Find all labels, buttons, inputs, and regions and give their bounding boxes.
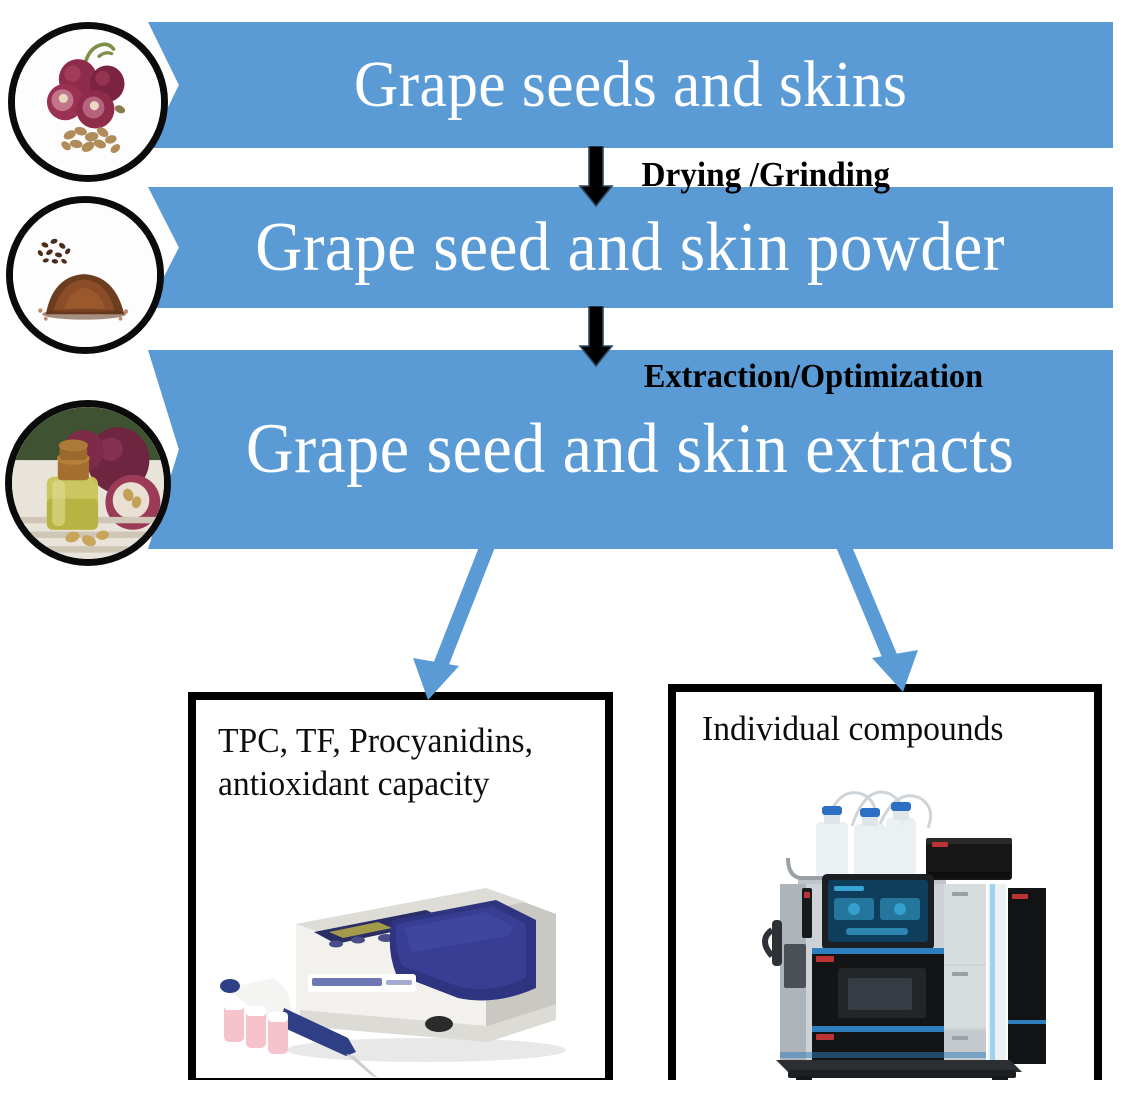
process-step-label-1: Grape seeds and skins	[354, 52, 908, 118]
flowchart-canvas: Grape seeds and skins Grape seed and ski…	[0, 0, 1125, 1110]
grapes-with-seeds-icon	[8, 22, 168, 182]
grape-seed-oil-bottle-icon	[5, 400, 171, 566]
transition-label-extraction: Extraction/Optimization	[644, 358, 983, 396]
outcome-box-hplc: Individual compounds	[668, 684, 1102, 1080]
process-step-banner-2: Grape seed and skin powder	[148, 187, 1113, 308]
down-arrow-icon-drying	[576, 146, 616, 208]
down-arrow-icon-extraction	[576, 306, 616, 368]
process-step-banner-1: Grape seeds and skins	[148, 22, 1113, 148]
grapes-photo-art	[15, 29, 161, 175]
transition-label-drying: Drying /Grinding	[642, 155, 890, 195]
branch-arrow-left-icon	[413, 542, 489, 700]
branch-arrow-right-icon	[842, 542, 918, 692]
uv-vis-spectrophotometer-icon	[196, 828, 605, 1078]
outcome-caption-right: Individual compounds	[702, 708, 1069, 751]
process-step-label-3: Grape seed and skin extracts	[246, 414, 1014, 485]
powder-photo-art	[13, 203, 157, 347]
process-step-label-2: Grape seed and skin powder	[256, 213, 1006, 283]
oil-bottle-photo-art	[12, 407, 164, 559]
outcome-box-spectrophotometry: TPC, TF, Procyanidins, antioxidant capac…	[188, 692, 613, 1080]
ground-powder-icon	[6, 196, 164, 354]
branching-arrows	[0, 540, 1125, 710]
outcome-caption-left: TPC, TF, Procyanidins, antioxidant capac…	[218, 720, 580, 805]
hplc-system-icon	[676, 780, 1094, 1080]
